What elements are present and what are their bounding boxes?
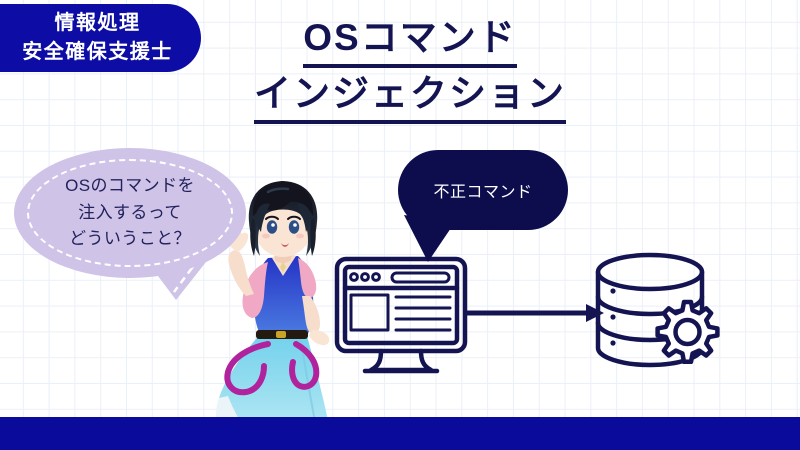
certification-badge: 情報処理 安全確保支援士 (0, 4, 201, 72)
bottom-bar (0, 417, 800, 450)
title-row-2: インジェクション (200, 68, 620, 124)
page-title: OSコマンド インジェクション (200, 12, 620, 124)
title-row-1: OSコマンド (200, 12, 620, 68)
question-bubble-line-3: どういうこと？ (69, 226, 191, 252)
attack-bubble-body: 不正コマンド (398, 150, 568, 230)
question-bubble-line-1: OSのコマンドを (65, 173, 195, 199)
slide-canvas: OSのコマンドを 注入するって どういうこと？ 不正コマンド 情報処理 安全確保… (0, 0, 800, 450)
attack-speech-bubble: 不正コマンド (398, 150, 568, 230)
badge-line-2: 安全確保支援士 (22, 38, 173, 67)
title-line-1: OSコマンド (303, 12, 516, 68)
badge-line-1: 情報処理 (55, 9, 141, 38)
attack-bubble-label: 不正コマンド (433, 178, 532, 202)
question-bubble-line-2: 注入するって (78, 200, 182, 226)
title-line-2: インジェクション (254, 68, 566, 124)
